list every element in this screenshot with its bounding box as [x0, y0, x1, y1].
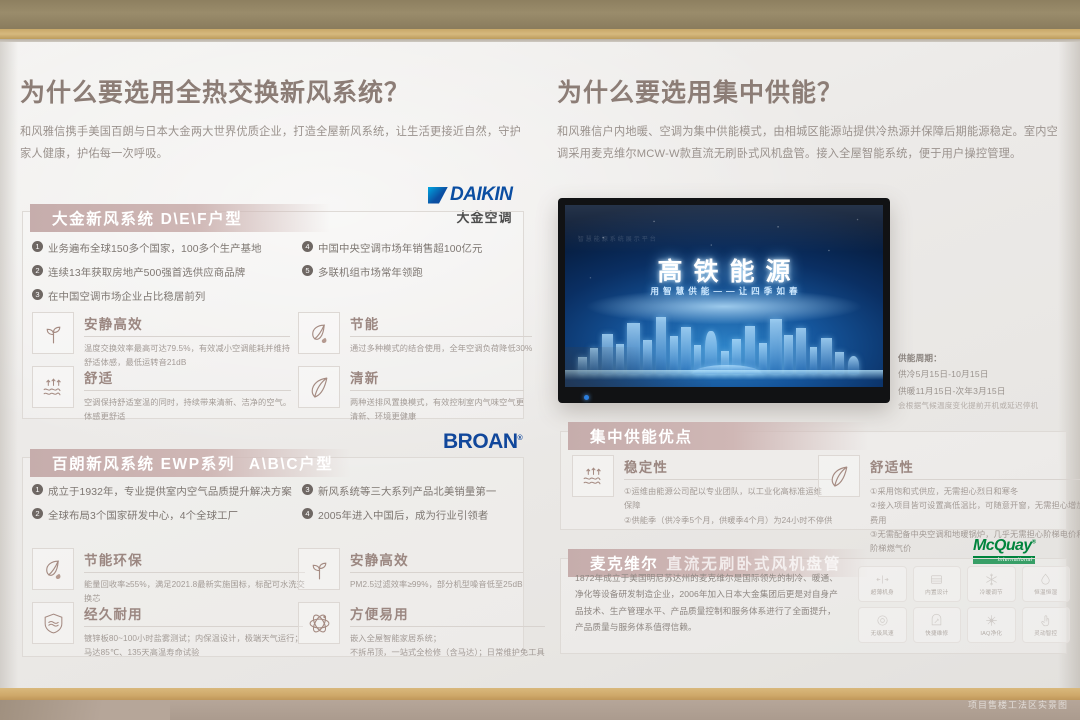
ceiling — [0, 0, 1080, 29]
bullet-item: 3新风系统等三大系列产品北美销量第一 — [302, 483, 522, 498]
supply-cycle-note-extra: 会根据气候温度变化提前开机或延迟停机 — [898, 399, 1076, 413]
leaf-icon — [818, 455, 860, 497]
mcquay-tile-label: IAQ净化 — [980, 629, 1002, 637]
layers-icon — [929, 572, 944, 587]
feature-desc-line: 不拆吊顶，一站式全检修（含马达）；日常维护免工具 — [350, 646, 545, 660]
mcquay-tile-label: 超薄机身 — [871, 588, 894, 596]
wall-mounted-tv[interactable]: 智慧能源系统展示平台 — [558, 198, 890, 403]
mcquay-feature-tile: 灵动智控 — [1022, 607, 1071, 643]
mcquay-tile-label: 恒温恒湿 — [1034, 588, 1057, 596]
bullet-text: 连续13年获取房地产500强首选供应商品牌 — [48, 264, 245, 279]
daikin-mark-icon — [428, 187, 448, 204]
feature-desc: 镀锌板80~100小时盐雾测试；内保温设计，极端天气运行；马达85℃、135天高… — [84, 632, 303, 660]
feature-desc-line: 马达85℃、135天高温寿命试验 — [84, 646, 303, 660]
bullet-number: 5 — [302, 265, 313, 276]
daikin-feature-3: 清新 两种送排风置换模式，有效控制室内气味空气更清新、环境更健康 — [298, 366, 523, 424]
mcquay-feature-tile: 超薄机身 — [858, 566, 907, 602]
floor-trim — [0, 688, 1080, 700]
feature-desc: 嵌入全屋智能家居系统；不拆吊顶，一站式全检修（含马达）；日常维护免工具 — [350, 632, 545, 660]
bullet-number: 1 — [32, 484, 43, 495]
feature-desc: 通过多种模式的结合使用，全年空调负荷降低30% — [350, 342, 532, 356]
bullet-item: 2连续13年获取房地产500强首选供应商品牌 — [32, 264, 302, 279]
mcquay-feature-tile: 快捷维修 — [913, 607, 962, 643]
bullet-text: 在中国空调市场企业占比稳居前列 — [48, 288, 205, 303]
feature-title: 安静高效 — [84, 313, 290, 337]
bullet-item: 4中国中央空调市场年销售超100亿元 — [302, 240, 522, 255]
supply-cycle-heating: 供暖11月15日-次年3月15日 — [898, 383, 1076, 399]
feature-title: 经久耐用 — [84, 603, 303, 627]
touch-icon — [1038, 613, 1053, 628]
right-column-title: 为什么要选用集中供能？ — [557, 78, 1067, 108]
daikin-ribbon: 大金新风系统 D\E\F户型 — [30, 204, 330, 232]
feature-desc-line: 嵌入全屋智能家居系统； — [350, 632, 545, 646]
bullet-number: 3 — [302, 484, 313, 495]
snowflake-icon — [984, 572, 999, 587]
central-supply-ribbon-label: 集中供能优点 — [590, 425, 693, 447]
bullet-number: 4 — [302, 241, 313, 252]
mcquay-feature-tile: 无级风速 — [858, 607, 907, 643]
bullet-text: 中国中央空调市场年销售超100亿元 — [318, 240, 483, 255]
humidity-icon — [1038, 572, 1053, 587]
feature-title: 节能 — [350, 313, 532, 337]
bullet-text: 全球布局3个国家研发中心，4个全球工厂 — [48, 507, 238, 522]
leaf-drop-icon — [32, 548, 74, 590]
feature-title: 安静高效 — [350, 549, 523, 573]
mcquay-feature-tile: 内置设计 — [913, 566, 962, 602]
mcquay-feature-tile: 冷暖调节 — [967, 566, 1016, 602]
supply-cycle-heading: 供能周期： — [898, 350, 1076, 366]
feature-title: 节能环保 — [84, 549, 305, 573]
broan-feature-3: 方便易用 嵌入全屋智能家居系统；不拆吊顶，一站式全检修（含马达）；日常维护免工具 — [298, 602, 523, 660]
daikin-ribbon-main: 大金新风系统 — [52, 207, 155, 229]
atom-icon — [298, 602, 340, 644]
leaf-icon — [298, 366, 340, 408]
bullet-number: 2 — [32, 508, 43, 519]
broan-ribbon-series: EWP系列 — [161, 452, 235, 474]
broan-ribbon-sub: A\B\C户型 — [249, 452, 333, 474]
slim-body-icon — [875, 572, 890, 587]
bullet-number: 1 — [32, 241, 43, 252]
broan-ribbon-main: 百朗新风系统 — [52, 452, 155, 474]
daikin-wordmark: DAIKIN — [450, 184, 512, 206]
leaf-drop-icon — [298, 312, 340, 354]
bullet-item: 2全球布局3个国家研发中心，4个全球工厂 — [32, 507, 302, 522]
exhibition-wall-photo: 为什么要选用全热交换新风系统？ 和风雅信携手美国百朗与日本大金两大世界优质企业，… — [0, 0, 1080, 720]
feature-desc-line: ②接入项目皆可设置高低温比，可随意开窗，无需担心增加 — [870, 499, 1080, 513]
feature-title: 稳定性 — [624, 456, 832, 480]
central-supply-ribbon: 集中供能优点 — [568, 422, 868, 450]
left-column-title: 为什么要选用全热交换新风系统？ — [20, 78, 525, 108]
watermark: 项目售楼工法区实景图 — [968, 698, 1068, 711]
feature-desc-line: 空调保持舒适室温的同时，持续带来清新、洁净的空气。 — [84, 396, 291, 410]
right-column-intro: 和风雅信户内地暖、空调为集中供能模式，由相城区能源站提供冷热源并保障后期能源稳定… — [557, 122, 1067, 166]
tv-screen-reflection-top — [565, 205, 883, 252]
tv-subtitle: 用智慧供能——让四季如春 — [565, 285, 883, 297]
feature-desc-line: PM2.5过滤效率≥99%，部分机型噪音低至25dB — [350, 578, 523, 592]
feature-desc: 空调保持舒适室温的同时，持续带来清新、洁净的空气。体感更舒适 — [84, 396, 291, 424]
shield-icon — [32, 602, 74, 644]
broan-feature-2: 经久耐用 镀锌板80~100小时盐雾测试；内保温设计，极端天气运行；马达85℃、… — [32, 602, 280, 660]
mcquay-body-text: 1872年成立于美国明尼苏达州的麦克维尔是国际领先的制冷、暖通、净化等设备研发制… — [575, 570, 840, 635]
feature-desc-line: 温度交换效率最高可达79.5%，有效减小空调能耗并维持 — [84, 342, 290, 356]
mcquay-tile-label: 灵动智控 — [1034, 629, 1057, 637]
broan-feature-1: 安静高效 PM2.5过滤效率≥99%，部分机型噪音低至25dB — [298, 548, 523, 592]
daikin-feature-1: 节能 通过多种模式的结合使用，全年空调负荷降低30% — [298, 312, 523, 356]
feature-desc: PM2.5过滤效率≥99%，部分机型噪音低至25dB — [350, 578, 523, 592]
feature-desc-line: 费用 — [870, 514, 1080, 528]
mcquay-wordmark: McQuay® — [973, 537, 1035, 555]
bullet-number: 4 — [302, 508, 313, 519]
bullet-item: 42005年进入中国后，成为行业引领者 — [302, 507, 522, 522]
bullet-text: 2005年进入中国后，成为行业引领者 — [318, 507, 488, 522]
bullet-item: 1业务遍布全球150多个国家，100多个生产基地 — [32, 240, 302, 255]
bullet-text: 多联机组市场常年领跑 — [318, 264, 423, 279]
broan-wordmark: BROAN — [443, 430, 518, 453]
left-column-header: 为什么要选用全热交换新风系统？ 和风雅信携手美国百朗与日本大金两大世界优质企业，… — [20, 78, 525, 166]
broan-bullets: 1成立于1932年，专业提供室内空气品质提升解决方案2全球布局3个国家研发中心，… — [32, 483, 522, 522]
feature-desc-line: 保障 — [624, 499, 832, 513]
wrench-panel-icon — [929, 613, 944, 628]
supply-cycle-note: 供能周期： 供冷5月15日-10月15日 供暖11月15日-次年3月15日 会根… — [898, 350, 1076, 413]
mcquay-feature-tile: IAQ净化 — [967, 607, 1016, 643]
feature-desc-line: ②供能季（供冷季5个月，供暖季4个月）为24小时不停供 — [624, 514, 832, 528]
feature-desc: 两种送排风置换模式，有效控制室内气味空气更清新、环境更健康 — [350, 396, 524, 424]
bullet-text: 成立于1932年，专业提供室内空气品质提升解决方案 — [48, 483, 292, 498]
feature-desc-line: 通过多种模式的结合使用，全年空调负荷降低30% — [350, 342, 532, 356]
feature-title: 方便易用 — [350, 603, 545, 627]
mcquay-tile-label: 内置设计 — [925, 588, 948, 596]
airflow-icon — [32, 366, 74, 408]
purify-icon — [984, 613, 999, 628]
feature-desc-line: 能量回收率≥55%，满足2021.8最新实施国标，标配可水洗交 — [84, 578, 305, 592]
supply-cycle-cooling: 供冷5月15日-10月15日 — [898, 366, 1076, 382]
tv-title: 高铁能源 — [565, 252, 883, 288]
wall-edge-left — [0, 42, 18, 692]
bullet-item: 3在中国空调市场企业占比稳居前列 — [32, 288, 302, 303]
daikin-feature-0: 安静高效 温度交换效率最高可达79.5%，有效减小空调能耗并维持舒适体感，最低运… — [32, 312, 280, 370]
tv-power-led — [584, 395, 589, 400]
bullet-number: 3 — [32, 289, 43, 300]
tv-screen-reflection-bottom — [565, 347, 711, 387]
left-column-intro: 和风雅信携手美国百朗与日本大金两大世界优质企业，打造全屋新风系统，让生活更接近自… — [20, 122, 525, 166]
feature-desc-line: ①采用饱和式供应，无需担心烈日和寒冬 — [870, 485, 1080, 499]
sprout-icon — [298, 548, 340, 590]
broan-ribbon: 百朗新风系统 EWP系列 A\B\C户型 — [30, 449, 350, 477]
bullet-item: 5多联机组市场常年领跑 — [302, 264, 522, 279]
floor-shadow — [0, 700, 170, 720]
feature-desc-line: 镀锌板80~100小时盐雾测试；内保温设计，极端天气运行； — [84, 632, 303, 646]
feature-desc: ①运维由能源公司配以专业团队，以工业化高标准运维保障②供能季（供冷季5个月，供暖… — [624, 485, 832, 528]
feature-title: 清新 — [350, 367, 524, 391]
feature-desc-line: 体感更舒适 — [84, 410, 291, 424]
tv-screen[interactable]: 智慧能源系统展示平台 — [565, 205, 883, 387]
mcquay-tile-label: 无级风速 — [871, 629, 894, 637]
fan-speed-icon — [875, 613, 890, 628]
daikin-bullets: 1业务遍布全球150多个国家，100多个生产基地2连续13年获取房地产500强首… — [32, 240, 522, 303]
mcquay-feature-tiles: 超薄机身内置设计冷暖调节恒温恒湿无级风速快捷维修IAQ净化灵动智控 — [858, 566, 1070, 643]
feature-desc-line: ①运维由能源公司配以专业团队，以工业化高标准运维 — [624, 485, 832, 499]
mcquay-tile-label: 快捷维修 — [925, 629, 948, 637]
daikin-feature-2: 舒适 空调保持舒适室温的同时，持续带来清新、洁净的空气。体感更舒适 — [32, 366, 280, 424]
feature-title: 舒适性 — [870, 456, 1080, 480]
airflow-icon — [572, 455, 614, 497]
feature-title: 舒适 — [84, 367, 291, 391]
broan-feature-0: 节能环保 能量回收率≥55%，满足2021.8最新实施国标，标配可水洗交换芯 — [32, 548, 280, 606]
bullet-text: 业务遍布全球150多个国家，100多个生产基地 — [48, 240, 262, 255]
bullet-text: 新风系统等三大系列产品北美销量第一 — [318, 483, 496, 498]
feature-desc-line: 两种送排风置换模式，有效控制室内气味空气更 — [350, 396, 524, 410]
broan-logo: BROAN® — [443, 430, 522, 454]
mcquay-tile-label: 冷暖调节 — [980, 588, 1003, 596]
bullet-item: 1成立于1932年，专业提供室内空气品质提升解决方案 — [32, 483, 302, 498]
mcquay-feature-tile: 恒温恒湿 — [1022, 566, 1071, 602]
sprout-icon — [32, 312, 74, 354]
feature-desc-line: 清新、环境更健康 — [350, 410, 524, 424]
ceiling-trim — [0, 29, 1080, 39]
bullet-number: 2 — [32, 265, 43, 276]
daikin-ribbon-sub: D\E\F户型 — [161, 207, 243, 229]
central-feature-0: 稳定性 ①运维由能源公司配以专业团队，以工业化高标准运维保障②供能季（供冷季5个… — [572, 455, 822, 528]
right-column-header: 为什么要选用集中供能？ 和风雅信户内地暖、空调为集中供能模式，由相城区能源站提供… — [557, 78, 1067, 166]
